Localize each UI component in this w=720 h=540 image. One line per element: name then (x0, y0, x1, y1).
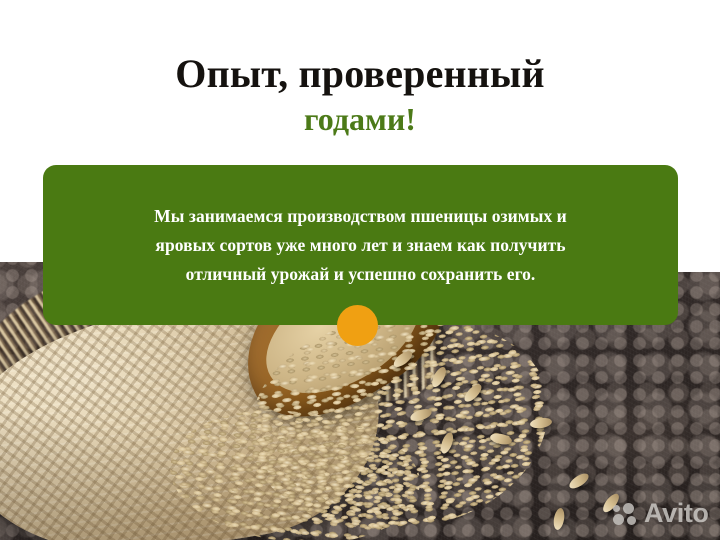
headline-line-primary: Опыт, проверенный (0, 52, 720, 97)
description-card: Мы занимаемся производством пшеницы озим… (43, 165, 678, 325)
avito-logo-dot-bottom-left (613, 514, 624, 525)
avito-logo-dot-top-right (623, 503, 634, 514)
description-card-text: Мы занимаемся производством пшеницы озим… (124, 202, 598, 289)
avito-wordmark: Avito (644, 500, 709, 527)
accent-dot (337, 305, 378, 346)
avito-logo-dot-top-left (613, 505, 620, 512)
avito-listing-banner: Опыт, проверенный годами! Мы занимаемся … (0, 0, 720, 540)
headline-line-accent: годами! (0, 99, 720, 139)
headline: Опыт, проверенный годами! (0, 52, 720, 139)
avito-watermark: Avito (613, 500, 709, 527)
avito-logo-icon (613, 503, 638, 525)
avito-logo-dot-bottom-right (627, 516, 636, 525)
